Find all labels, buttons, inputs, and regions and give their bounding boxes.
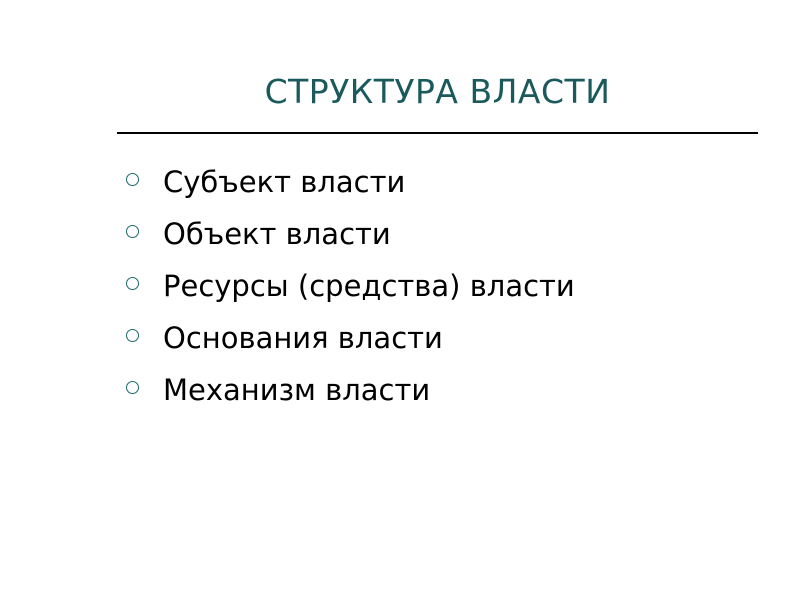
presentation-slide: СТРУКТУРА ВЛАСТИ Субъект власти Объект в…: [0, 0, 800, 600]
title-divider: [117, 132, 758, 134]
list-item: Ресурсы (средства) власти: [126, 266, 786, 318]
list-item: Субъект власти: [126, 162, 786, 214]
hollow-circle-bullet-icon: [126, 225, 139, 238]
hollow-circle-bullet-icon: [126, 329, 139, 342]
hollow-circle-bullet-icon: [126, 173, 139, 186]
list-item-label: Субъект власти: [163, 162, 786, 202]
list-item-label: Основания власти: [163, 318, 786, 358]
hollow-circle-bullet-icon: [126, 381, 139, 394]
hollow-circle-bullet-icon: [126, 277, 139, 290]
list-item-label: Ресурсы (средства) власти: [163, 266, 786, 306]
list-item: Механизм власти: [126, 370, 786, 422]
title-block: СТРУКТУРА ВЛАСТИ: [117, 72, 758, 112]
list-item-label: Объект власти: [163, 214, 786, 254]
bullet-list: Субъект власти Объект власти Ресурсы (ср…: [126, 162, 786, 422]
list-item: Объект власти: [126, 214, 786, 266]
list-item-label: Механизм власти: [163, 370, 786, 410]
page-title: СТРУКТУРА ВЛАСТИ: [117, 72, 758, 112]
list-item: Основания власти: [126, 318, 786, 370]
